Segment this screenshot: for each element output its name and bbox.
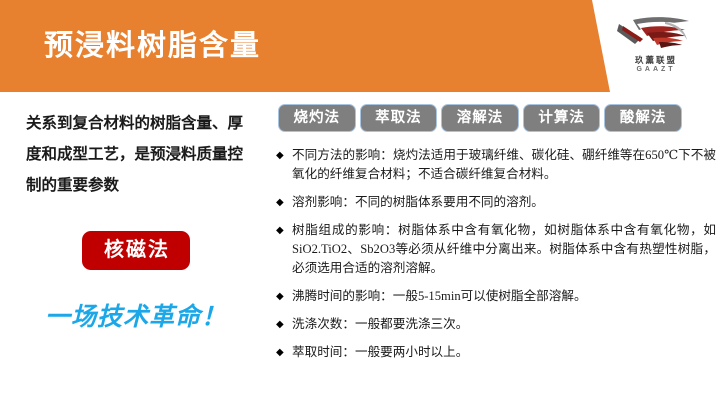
list-item-text: 沸腾时间的影响：一般5-15min可以使树脂全部溶解。	[292, 287, 716, 306]
tab-jisuanfa[interactable]: 计算法	[523, 104, 601, 132]
tab-cuiqufa[interactable]: 萃取法	[360, 104, 438, 132]
list-item: ◆ 沸腾时间的影响：一般5-15min可以使树脂全部溶解。	[276, 287, 716, 306]
nmr-method-badge[interactable]: 核磁法	[82, 231, 190, 270]
method-tab-row: 烧灼法 萃取法 溶解法 计算法 酸解法	[278, 104, 682, 132]
list-item: ◆ 不同方法的影响：烧灼法适用于玻璃纤维、碳化硅、硼纤维等在650℃下不被氧化的…	[276, 146, 716, 184]
diamond-bullet-icon: ◆	[276, 146, 284, 165]
list-item: ◆ 溶剂影响：不同的树脂体系要用不同的溶剂。	[276, 193, 716, 212]
tab-suanjiefa[interactable]: 酸解法	[604, 104, 682, 132]
brand-logo: 玖薰联盟 GAAZT	[606, 14, 706, 84]
tab-shaozhuofa[interactable]: 烧灼法	[278, 104, 356, 132]
bullet-list: ◆ 不同方法的影响：烧灼法适用于玻璃纤维、碳化硅、硼纤维等在650℃下不被氧化的…	[276, 146, 716, 371]
page-title: 预浸料树脂含量	[44, 26, 261, 66]
list-item-text: 树脂组成的影响：树脂体系中含有氧化物，如树脂体系中含有氧化物，如SiO2.TiO…	[292, 221, 716, 278]
diamond-bullet-icon: ◆	[276, 315, 284, 334]
left-column: 关系到复合材料的树脂含量、厚度和成型工艺，是预浸料质量控制的重要参数 核磁法 一…	[0, 96, 272, 396]
method-badge-container: 核磁法	[0, 231, 272, 270]
diamond-bullet-icon: ◆	[276, 287, 284, 306]
list-item: ◆ 萃取时间：一般要两小时以上。	[276, 343, 716, 362]
list-item-text: 洗涤次数：一般都要洗涤三次。	[292, 315, 716, 334]
list-item-text: 不同方法的影响：烧灼法适用于玻璃纤维、碳化硅、硼纤维等在650℃下不被氧化的纤维…	[292, 146, 716, 184]
logo-cn-text: 玖薰联盟	[606, 55, 706, 65]
rog-style-emblem-icon	[613, 14, 699, 54]
slide-header: 预浸料树脂含量 玖薰联盟 GAAZT	[0, 0, 720, 92]
list-item-text: 溶剂影响：不同的树脂体系要用不同的溶剂。	[292, 193, 716, 212]
diamond-bullet-icon: ◆	[276, 193, 284, 212]
list-item: ◆ 洗涤次数：一般都要洗涤三次。	[276, 315, 716, 334]
lead-paragraph: 关系到复合材料的树脂含量、厚度和成型工艺，是预浸料质量控制的重要参数	[26, 108, 258, 201]
diamond-bullet-icon: ◆	[276, 343, 284, 362]
diamond-bullet-icon: ◆	[276, 221, 284, 240]
tab-rongjiefa[interactable]: 溶解法	[441, 104, 519, 132]
list-item: ◆ 树脂组成的影响：树脂体系中含有氧化物，如树脂体系中含有氧化物，如SiO2.T…	[276, 221, 716, 278]
right-column: 烧灼法 萃取法 溶解法 计算法 酸解法 ◆ 不同方法的影响：烧灼法适用于玻璃纤维…	[272, 96, 720, 396]
slogan-container: 一场技术革命！	[0, 301, 272, 333]
slogan-text: 一场技术革命！	[45, 301, 227, 333]
list-item-text: 萃取时间：一般要两小时以上。	[292, 343, 716, 362]
logo-en-text: GAAZT	[606, 65, 706, 74]
